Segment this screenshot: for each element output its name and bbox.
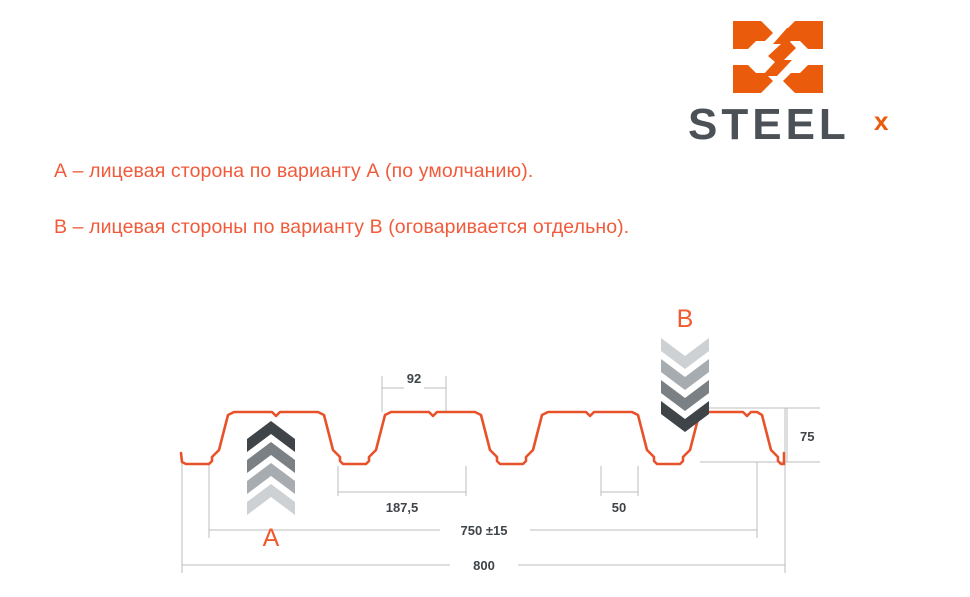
wordmark-steel: STEEL (688, 108, 850, 146)
steelx-x-mark-icon (732, 18, 824, 96)
direction-marker-b-label: B (677, 305, 694, 333)
dimension-750: 750 ±15 (209, 522, 757, 538)
brand-logo: STEEL x (688, 18, 908, 146)
note-variant-b: В – лицевая стороны по варианту В (огова… (54, 216, 629, 239)
dimension-75-label: 75 (800, 429, 814, 444)
profile-cross-section-drawing: 92 187,5 50 75 750 ±15 800 (0, 280, 970, 597)
dimension-800: 800 (182, 557, 785, 573)
note-variant-a: А – лицевая сторона по варианту А (по ум… (54, 160, 533, 183)
dimension-187-5-label: 187,5 (386, 500, 419, 515)
dimension-75: 75 (800, 429, 814, 444)
dimension-92: 92 (382, 371, 446, 388)
chevron-up-stack-a (247, 421, 295, 515)
dimension-187-5: 187,5 (338, 492, 466, 515)
dimension-50-label: 50 (612, 500, 626, 515)
wordmark-x: x (874, 108, 889, 136)
dimension-750-label: 750 ±15 (461, 523, 508, 538)
chevron-down-stack-b (661, 338, 709, 432)
direction-marker-a: A (247, 421, 295, 552)
direction-marker-a-label: A (263, 524, 280, 552)
direction-marker-b: B (661, 305, 709, 432)
dimension-50: 50 (601, 492, 638, 515)
dimension-800-label: 800 (473, 558, 495, 573)
dimension-92-label: 92 (407, 371, 421, 386)
steelx-wordmark: STEEL x (688, 108, 908, 146)
